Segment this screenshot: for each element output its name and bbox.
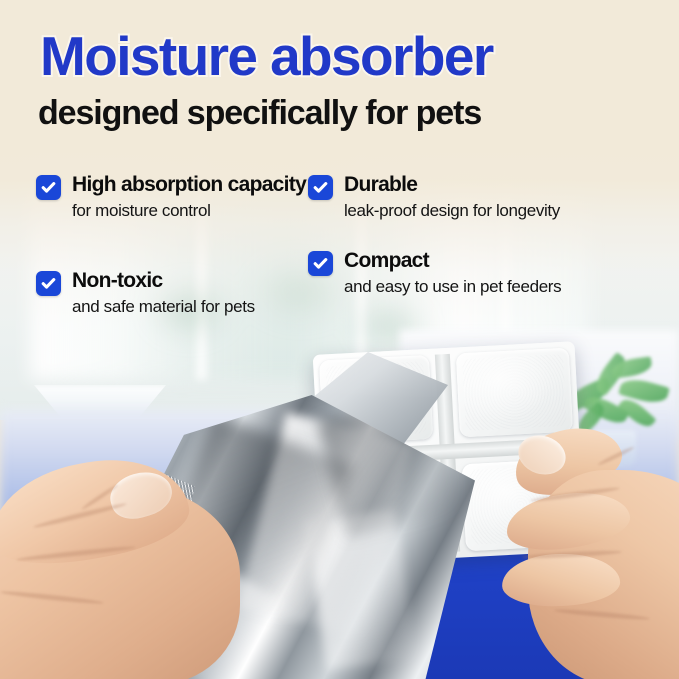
check-square-icon [308, 175, 333, 200]
feature-title: Compact [344, 248, 660, 273]
feature-title: Non-toxic [72, 268, 308, 293]
check-square-icon [36, 175, 61, 200]
feature-non-toxic: Non-toxic and safe material for pets [36, 268, 308, 318]
feature-title: Durable [344, 172, 660, 197]
feature-compact: Compact and easy to use in pet feeders [308, 248, 660, 298]
feature-subtitle: leak-proof design for longevity [344, 199, 660, 222]
feature-durable: Durable leak-proof design for longevity [308, 172, 660, 222]
feature-list: High absorption capacity for moisture co… [0, 0, 679, 360]
text-content: Moisture absorber designed specifically … [0, 0, 679, 679]
feature-high-absorption-capacity: High absorption capacity for moisture co… [36, 172, 308, 222]
check-square-icon [308, 251, 333, 276]
check-square-icon [36, 271, 61, 296]
feature-title: High absorption capacity [72, 172, 308, 197]
feature-subtitle: and easy to use in pet feeders [344, 275, 660, 298]
product-marketing-image: Moisture absorber designed specifically … [0, 0, 679, 679]
feature-subtitle: and safe material for pets [72, 295, 308, 318]
feature-subtitle: for moisture control [72, 199, 308, 222]
